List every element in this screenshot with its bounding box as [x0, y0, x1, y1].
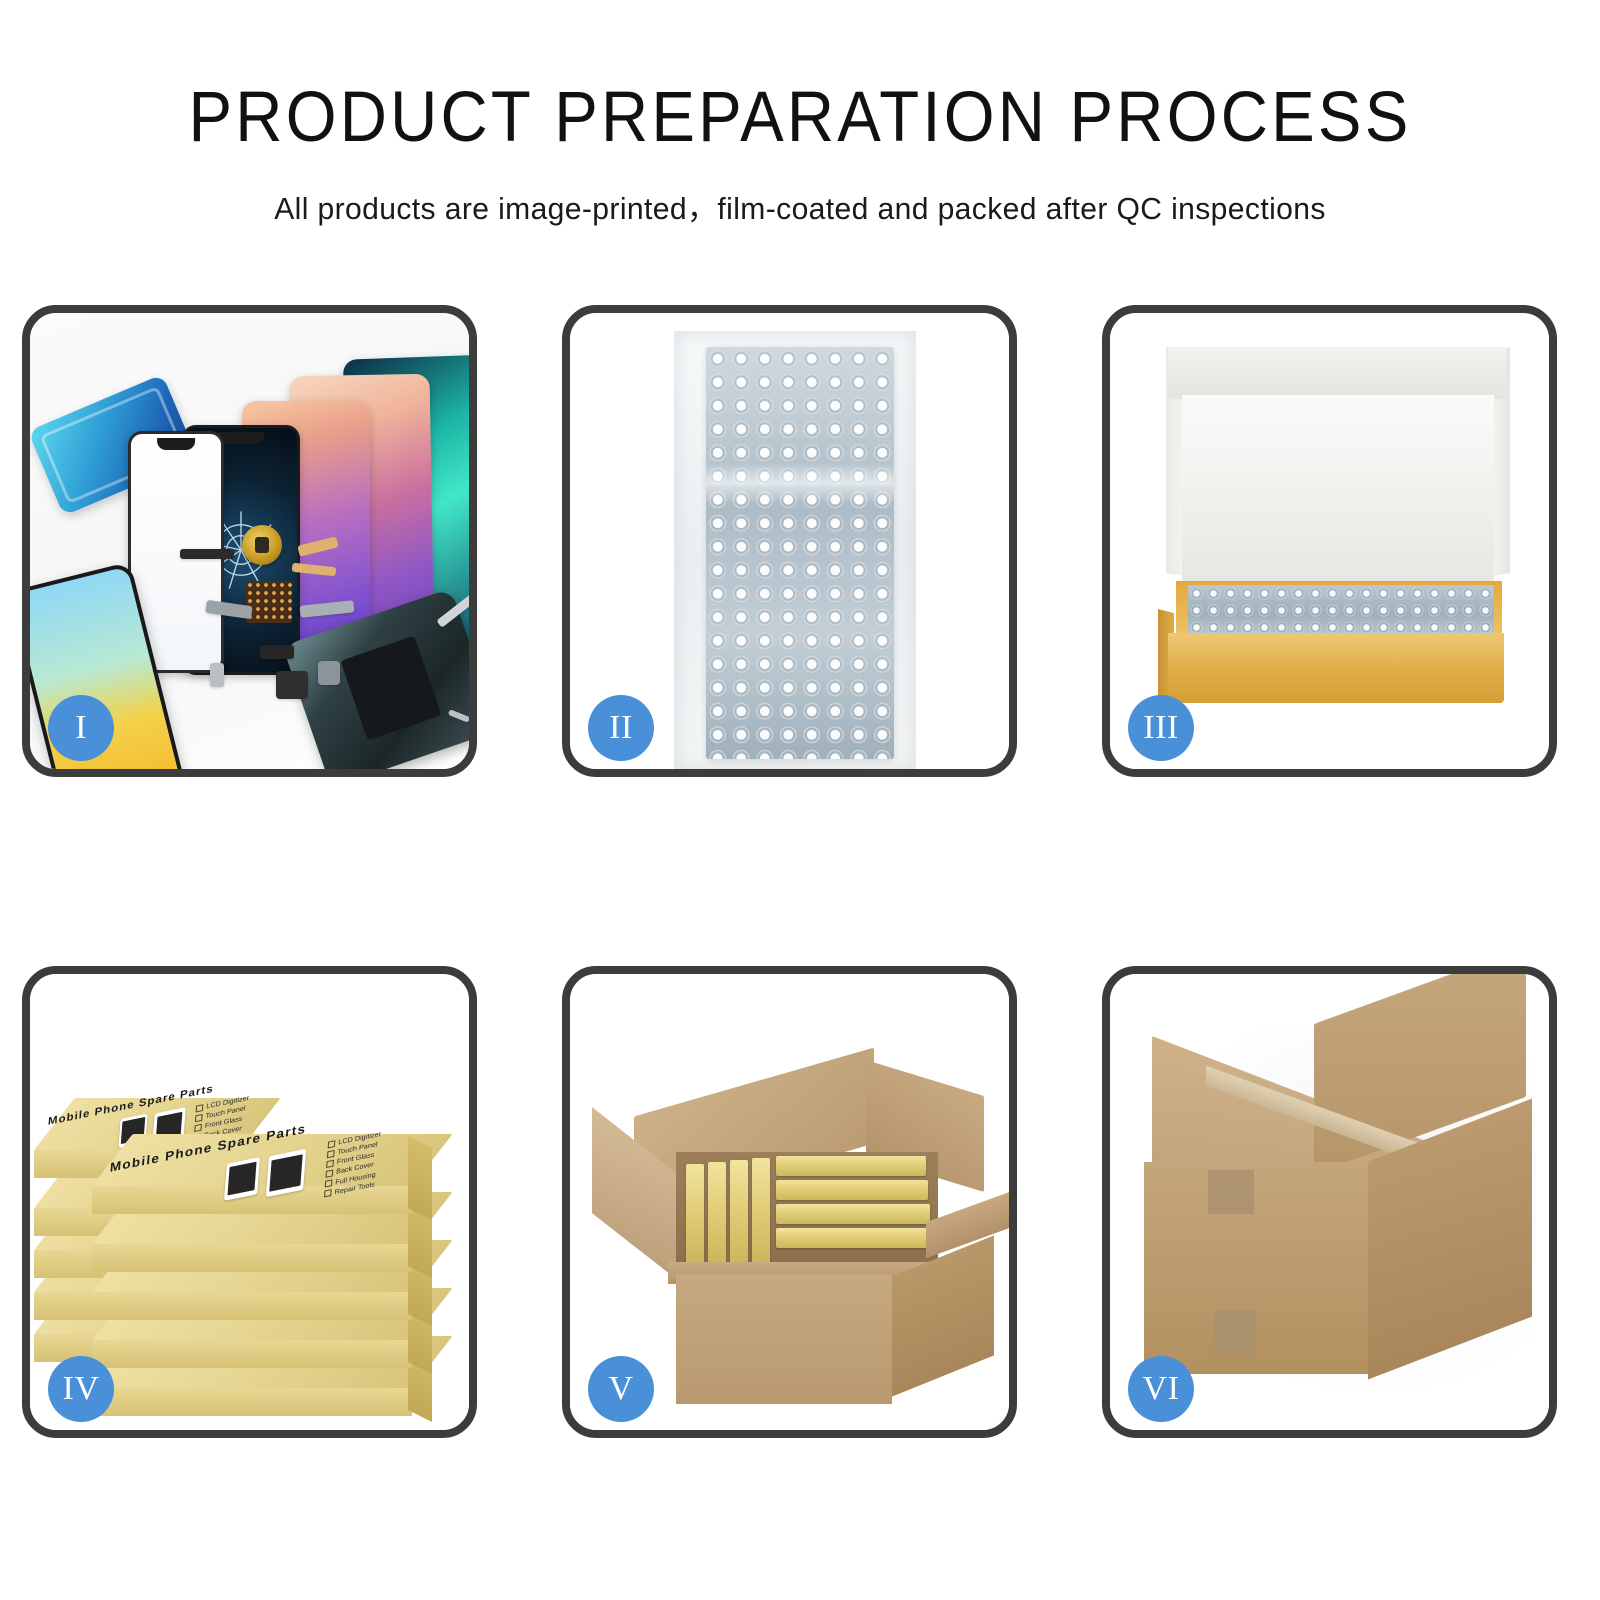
step-badge-6: VI — [1128, 1356, 1194, 1422]
packed-retail-box — [776, 1180, 928, 1200]
packed-retail-box — [708, 1162, 726, 1264]
tape-tab-upper — [1208, 1170, 1254, 1214]
process-step-panel-3[interactable]: III — [1102, 305, 1557, 777]
sealed-carton-front-face — [1144, 1162, 1368, 1374]
bubble-wrapped-product-in-box — [1188, 585, 1494, 633]
bubble-wrap-texture — [706, 347, 894, 759]
step-badge-1: I — [48, 695, 114, 761]
packed-retail-box — [686, 1164, 704, 1264]
camera-module-part — [318, 661, 340, 685]
sim-card-tray-part — [210, 663, 224, 687]
page-title: PRODUCT PREPARATION PROCESS — [64, 82, 1536, 153]
packed-retail-box — [776, 1156, 926, 1176]
page-subtitle: All products are image-printed，film-coat… — [24, 183, 1576, 228]
process-step-panel-2[interactable]: II — [562, 305, 1017, 777]
page-header: PRODUCT PREPARATION PROCESS All products… — [0, 0, 1600, 228]
retail-box-stacks: Mobile Phone Spare Parts LCD Digitizer T… — [30, 1014, 469, 1414]
carton-interior — [676, 1152, 938, 1274]
process-step-panel-1[interactable]: I — [22, 305, 477, 777]
step-badge-5: V — [588, 1356, 654, 1422]
packed-retail-box — [752, 1158, 770, 1264]
process-step-panel-4[interactable]: Mobile Phone Spare Parts LCD Digitizer T… — [22, 966, 477, 1438]
box-lid-face — [1182, 395, 1494, 583]
packed-retail-box — [776, 1228, 932, 1248]
retail-box-checklist-front: LCD Digitizer Touch Panel Front Glass Ba… — [324, 1130, 382, 1200]
step-badge-2: II — [588, 695, 654, 761]
packed-retail-box — [776, 1204, 930, 1224]
glass-notch — [157, 438, 195, 450]
step-badge-4: IV — [48, 1356, 114, 1422]
ic-chip-array-part — [246, 581, 292, 623]
phone-notch — [217, 432, 264, 444]
box-lid-back — [1168, 347, 1506, 399]
packed-retail-box — [730, 1160, 748, 1264]
loudspeaker-module-part — [260, 645, 294, 659]
process-step-panel-6[interactable]: VI — [1102, 966, 1557, 1438]
retail-box-thumb-front-2 — [266, 1149, 306, 1198]
earpiece-speaker-part — [180, 549, 234, 559]
bubble-wrap-highlight — [706, 463, 894, 503]
process-step-panel-5[interactable]: V — [562, 966, 1017, 1438]
wireless-charging-coil-part — [242, 525, 282, 565]
step-badge-3: III — [1128, 695, 1194, 761]
box-tray-front — [1168, 633, 1504, 703]
carton-front-face — [676, 1274, 892, 1404]
process-step-grid: I II III — [22, 305, 1578, 1440]
vibration-motor-part — [276, 671, 308, 699]
retail-box-thumb-front-1 — [224, 1157, 260, 1201]
tape-tab-lower — [1214, 1310, 1256, 1356]
